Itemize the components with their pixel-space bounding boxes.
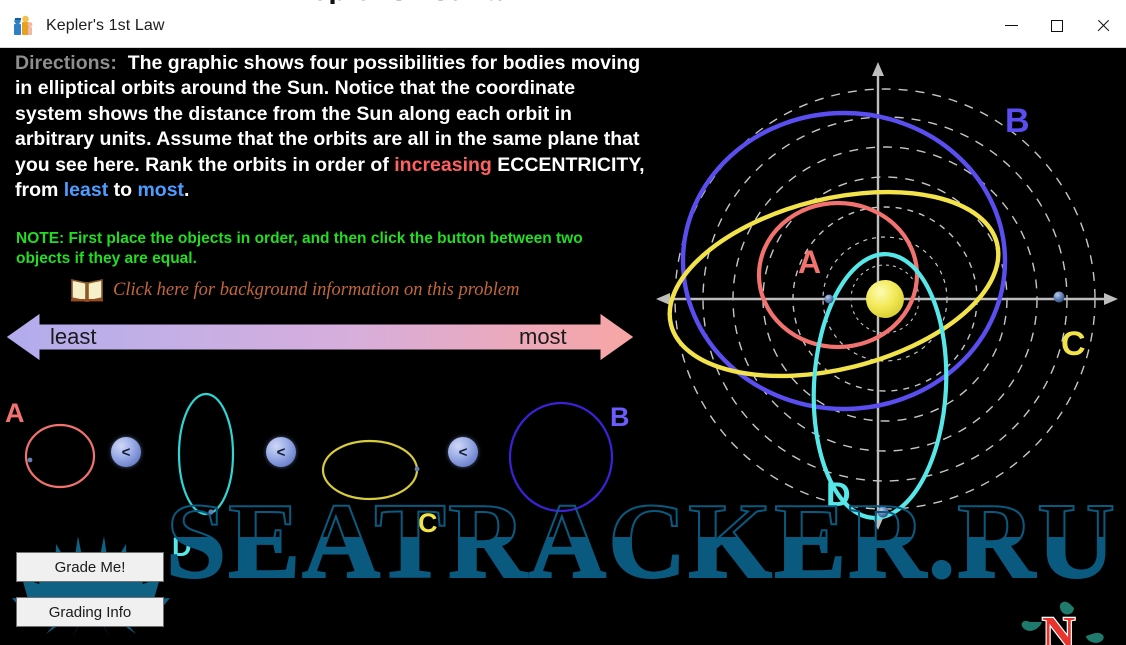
rank-scale-least-label: least <box>50 324 96 350</box>
minimize-icon <box>1005 25 1018 26</box>
grade-me-label: Grade Me! <box>55 559 126 576</box>
background-info-link[interactable]: Click here for background information on… <box>70 276 519 304</box>
app-window: Kepler's 1st Law Kepler's 1st Law <box>0 0 1126 645</box>
window-title: Kepler's 1st Law <box>46 17 165 35</box>
grade-me-button[interactable]: Grade Me! <box>16 552 164 582</box>
orbit-a-path <box>759 203 917 347</box>
directions-increasing: increasing <box>394 154 492 176</box>
open-book-icon <box>70 276 104 304</box>
orbit-b-path <box>683 113 1005 409</box>
rank-item-b-label: B <box>610 402 630 433</box>
equal-button-2[interactable]: < <box>266 437 296 467</box>
orbit-diagram: B A C D <box>648 56 1126 534</box>
equal-button-1[interactable]: < <box>111 437 141 467</box>
rank-scale-most-label: most <box>519 324 567 350</box>
ranking-row: A < D < <box>0 388 660 518</box>
title-bar: Kepler's 1st Law <box>0 4 1126 48</box>
equal-button-3-label: < <box>459 444 468 461</box>
orbit-label-b: B <box>1005 102 1030 140</box>
rank-item-d[interactable] <box>163 390 249 523</box>
nebraska-logo: N <box>1012 596 1122 645</box>
grading-info-button[interactable]: Grading Info <box>16 597 164 627</box>
background-info-label: Click here for background information on… <box>113 280 519 301</box>
orbit-label-a: A <box>798 244 821 280</box>
close-icon <box>1096 19 1110 33</box>
directions-most: most <box>137 179 184 201</box>
grading-info-label: Grading Info <box>49 604 132 621</box>
directions-body-3: to <box>108 179 137 201</box>
directions-body-4: . <box>184 179 189 201</box>
maximize-button[interactable] <box>1034 4 1080 48</box>
close-button[interactable] <box>1080 4 1126 48</box>
directions-label: Directions: <box>15 52 117 74</box>
orbit-label-d: D <box>826 476 851 514</box>
people-icon <box>12 15 34 37</box>
rank-item-b[interactable] <box>503 398 625 521</box>
sun-body <box>866 280 904 318</box>
rank-item-c[interactable] <box>316 430 428 515</box>
directions-note: NOTE: First place the objects in order, … <box>16 229 636 269</box>
equal-button-3[interactable]: < <box>448 437 478 467</box>
rank-item-c-label: C <box>418 508 438 539</box>
directions-panel: Directions: The graphic shows four possi… <box>15 51 645 203</box>
maximize-icon <box>1051 20 1063 32</box>
equal-button-2-label: < <box>277 444 286 461</box>
planet-marker-a <box>825 295 834 304</box>
orbit-label-c: C <box>1061 325 1086 363</box>
simulation-canvas: Directions: The graphic shows four possi… <box>0 48 1126 645</box>
rank-scale-arrow: least most <box>6 310 634 364</box>
planet-marker-d <box>878 507 889 518</box>
directions-least: least <box>64 179 108 201</box>
rank-item-a-label: A <box>5 398 25 429</box>
minimize-button[interactable] <box>988 4 1034 48</box>
planet-marker-c <box>1054 292 1065 303</box>
orbit-c-path <box>650 161 1017 407</box>
nebraska-logo-letter: N <box>1042 607 1075 645</box>
equal-button-1-label: < <box>122 444 131 461</box>
